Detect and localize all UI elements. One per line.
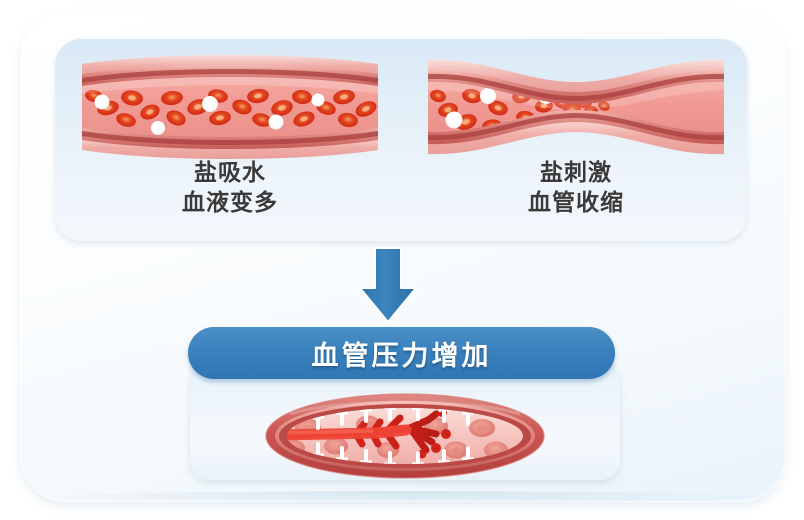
constricted-blood-vessel-icon bbox=[426, 52, 726, 166]
cause-item-salt-absorbs-water: 盐吸水 血液变多 bbox=[55, 38, 405, 241]
infographic-root: 盐吸水 血液变多 bbox=[0, 0, 804, 520]
result-banner: 血管压力增加 bbox=[188, 327, 615, 379]
result-banner-label: 血管压力增加 bbox=[312, 334, 492, 373]
cause-caption-right-line1: 盐刺激 bbox=[405, 158, 747, 188]
pressurized-vessel-cross-section-icon bbox=[260, 388, 550, 488]
cause-caption-left-line2: 血液变多 bbox=[55, 188, 405, 218]
cause-caption-right: 盐刺激 血管收缩 bbox=[405, 158, 747, 219]
cause-caption-left: 盐吸水 血液变多 bbox=[55, 158, 405, 219]
normal-blood-vessel-icon bbox=[80, 52, 380, 166]
down-arrow-icon bbox=[352, 246, 432, 326]
causes-panel: 盐吸水 血液变多 bbox=[55, 38, 747, 241]
cause-item-salt-constricts-vessel: 盐刺激 血管收缩 bbox=[405, 38, 747, 241]
cause-caption-left-line1: 盐吸水 bbox=[55, 158, 405, 188]
cause-caption-right-line2: 血管收缩 bbox=[405, 188, 747, 218]
